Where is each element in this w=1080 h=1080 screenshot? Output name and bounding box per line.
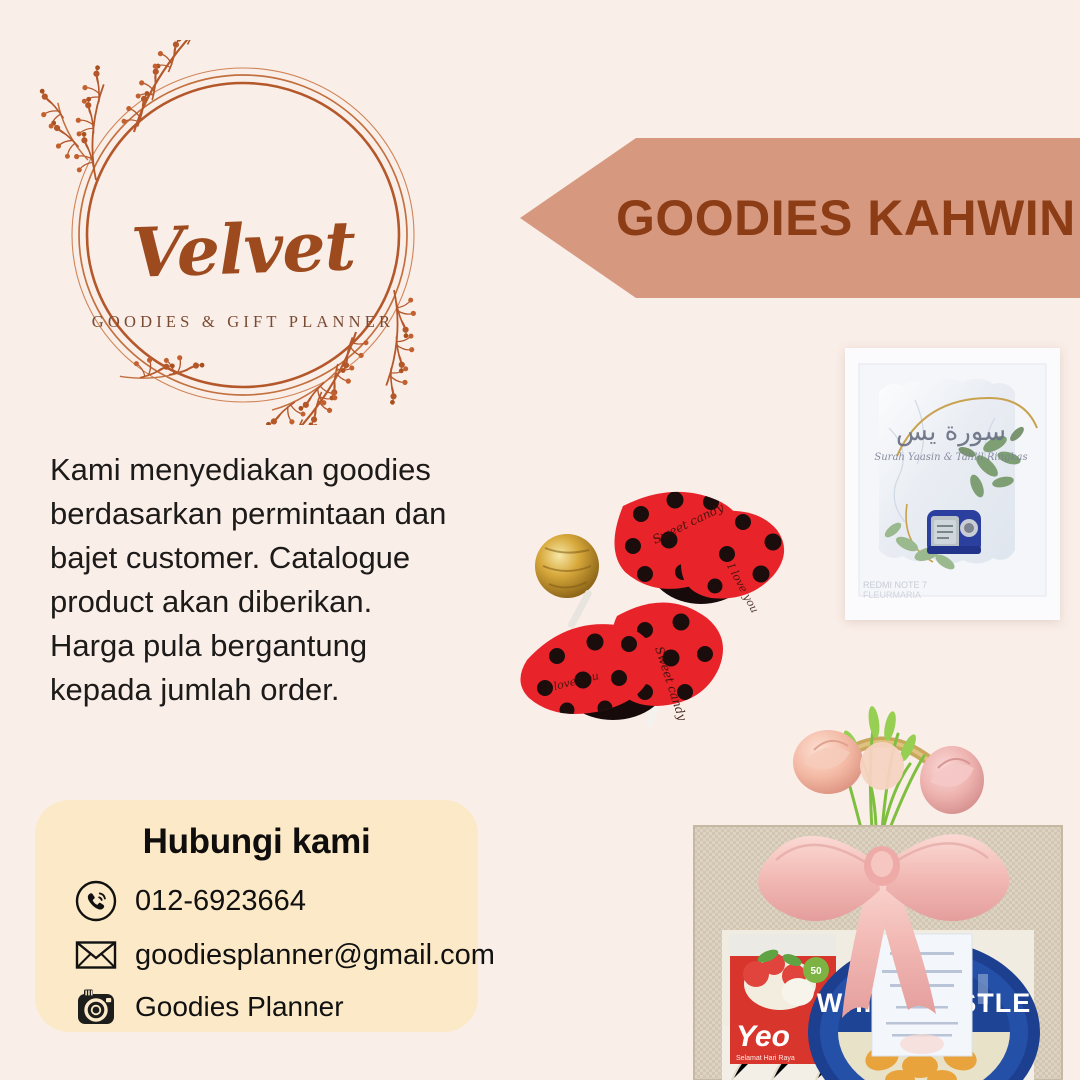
description-text: Kami menyediakan goodies berdasarkan per… — [50, 448, 450, 712]
jute-hamper-bag-photo: 50 Yeo Selamat Hari Raya — [676, 640, 1080, 1080]
contact-row-phone[interactable]: 012-6923664 — [75, 880, 306, 922]
svg-text:Surah Yaasin & Tahlil Ringkas: Surah Yaasin & Tahlil Ringkas — [874, 452, 1027, 463]
contact-card: Hubungi kami 012-6923664 goodiesplanner@… — [35, 800, 478, 1032]
banner-title: GOODIES KAHWIN — [616, 189, 1076, 247]
svg-text:Yeo: Yeo — [736, 1020, 790, 1053]
contact-row-email[interactable]: goodiesplanner@gmail.com — [75, 934, 495, 976]
svg-text:سورة يس: سورة يس — [896, 417, 1006, 447]
prayer-set-gift-box-photo: سورة يس Surah Yaasin & Tahlil Ringkas RE… — [845, 348, 1060, 620]
instagram-handle: Goodies Planner — [135, 991, 344, 1023]
flyer-canvas: Velvet GOODIES & GIFT PLANNER GOODIES KA… — [0, 0, 1080, 1080]
svg-text:50: 50 — [810, 966, 822, 977]
svg-text:FLEURMARIA: FLEURMARIA — [863, 590, 921, 600]
contact-heading: Hubungi kami — [35, 822, 478, 862]
phone-icon — [75, 880, 117, 922]
brand-name: Velvet — [37, 209, 449, 291]
phone-number: 012-6923664 — [135, 885, 306, 918]
brand-logo: Velvet GOODIES & GIFT PLANNER — [38, 40, 448, 425]
goodies-kahwin-banner: GOODIES KAHWIN — [520, 138, 1080, 298]
svg-text:Selamat Hari Raya: Selamat Hari Raya — [736, 1055, 795, 1062]
svg-text:REDMI NOTE 7: REDMI NOTE 7 — [863, 580, 927, 590]
brand-tagline: GOODIES & GIFT PLANNER — [38, 312, 448, 332]
instagram-icon — [75, 986, 117, 1028]
email-address: goodiesplanner@gmail.com — [135, 939, 495, 972]
contact-row-instagram[interactable]: Goodies Planner — [75, 986, 344, 1028]
email-icon — [75, 934, 117, 976]
